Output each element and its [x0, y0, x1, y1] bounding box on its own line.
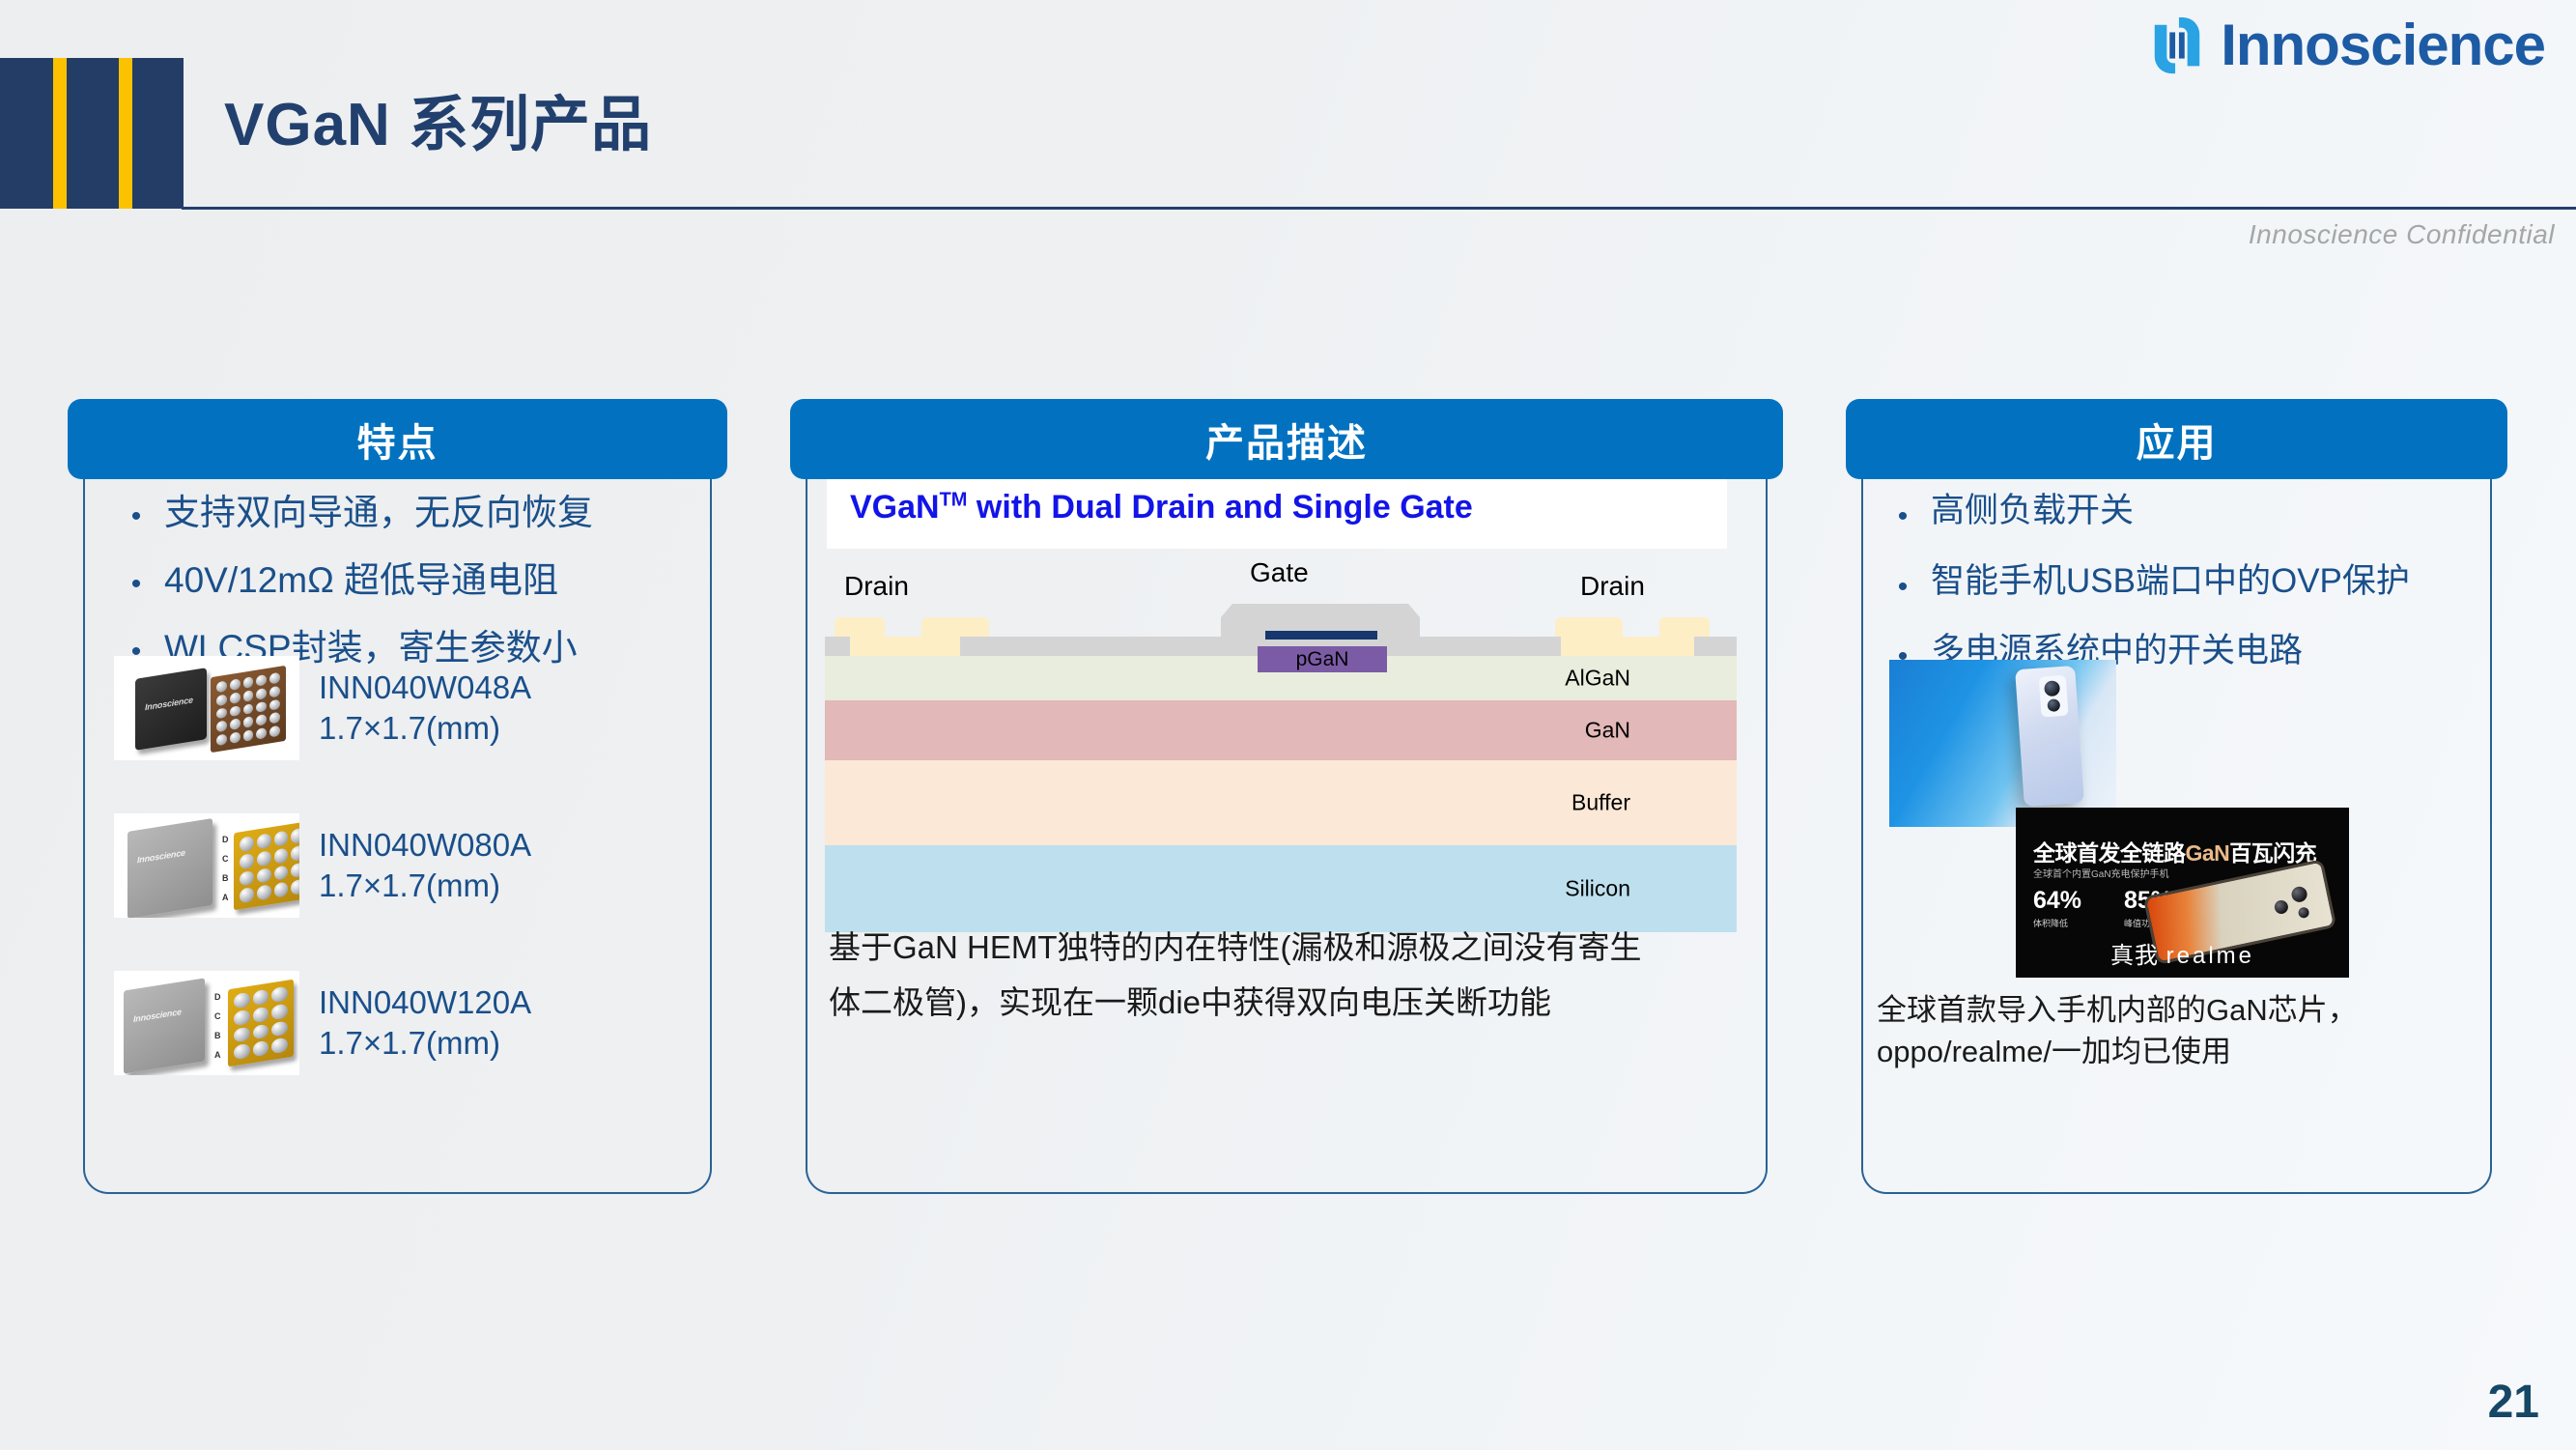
header-gold-stripe	[119, 58, 132, 209]
features-card-body	[83, 467, 712, 1194]
confidential-notice: Innoscience Confidential	[2249, 219, 2555, 250]
page-number: 21	[2488, 1376, 2539, 1429]
applications-card: 应用 • 高侧负载开关 • 智能手机USB端口中的OVP保护 • 多电源系统中的…	[1846, 399, 2507, 1194]
header-gold-stripe	[53, 58, 67, 209]
applications-card-body	[1861, 467, 2492, 1194]
brand-logo: Innoscience	[2147, 15, 2545, 75]
brand-logo-text: Innoscience	[2221, 16, 2545, 74]
header-decoration-bar	[0, 58, 184, 209]
description-card-body	[806, 467, 1768, 1194]
description-card: 产品描述 VGaNTM with Dual Drain and Single G…	[790, 399, 1783, 1194]
features-card-title: 特点	[68, 399, 727, 479]
page-title: VGaN 系列产品	[224, 75, 652, 162]
header-divider-rule	[182, 207, 2576, 210]
innoscience-logo-mark-icon	[2147, 15, 2207, 75]
applications-card-title: 应用	[1846, 399, 2507, 479]
page-header: VGaN 系列产品 Innoscience Innoscience Confid…	[0, 0, 2576, 209]
features-card: 特点 • 支持双向导通，无反向恢复 • 40V/12mΩ 超低导通电阻 • WL…	[68, 399, 727, 1194]
description-card-title: 产品描述	[790, 399, 1783, 479]
